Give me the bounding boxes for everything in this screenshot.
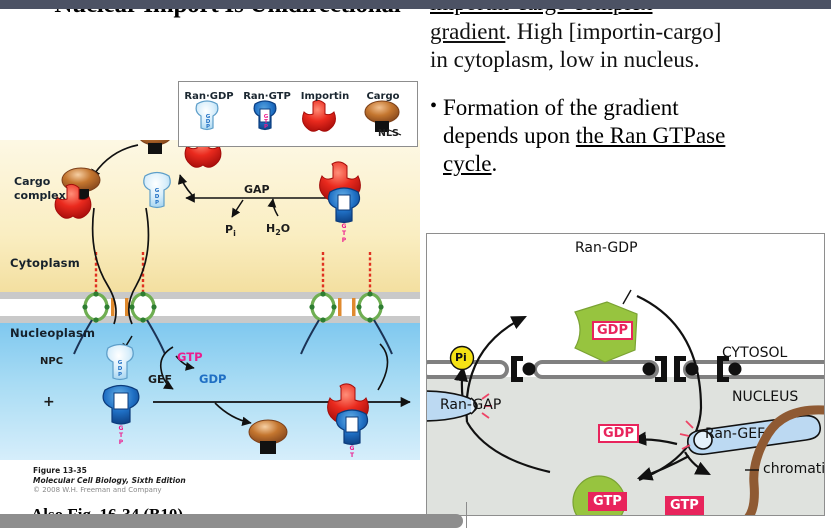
gtp-tag-bound: GTP <box>588 492 627 511</box>
svg-text:P: P <box>119 439 124 446</box>
bullet-line2-plain-text: depends upon <box>443 123 576 148</box>
ran-gdp-cytoplasm-glyph: G D P <box>144 173 170 208</box>
label-nucleus: NUCLEUS <box>732 389 798 405</box>
svg-text:G: G <box>119 425 124 432</box>
svg-text:T: T <box>119 432 124 439</box>
bullet-text-column: importin-cargo complex gradient. High [i… <box>430 4 828 178</box>
label-cargo-complex-line2: complex <box>14 189 66 202</box>
cycle-arrow-bottom-left <box>467 422 550 472</box>
ran-gdp-nucleoplasm-glyph: G D P <box>107 345 133 380</box>
credit-book-title: Molecular Cell Biology, Sixth Edition <box>33 476 186 485</box>
label-plus-nucleoplasm: + <box>43 394 55 410</box>
legend-label-nls: NLS <box>378 128 399 139</box>
svg-text:T: T <box>350 452 355 459</box>
label-pi-main: P <box>225 223 233 236</box>
label-gef: GEF <box>148 373 172 386</box>
label-cargo-complex: Cargo complex <box>14 175 66 203</box>
legend-box: Ran·GDP Ran·GTP Importin Cargo NLS GDP G… <box>178 81 418 147</box>
importin-ran-gtp-nucleoplasm-glyph: G T <box>328 384 369 459</box>
cycle-arrow-right-down <box>637 296 701 408</box>
nuclear-envelope <box>427 362 824 377</box>
gdp-tag-top: GDP <box>592 321 633 340</box>
bullet-item-formation: • Formation of the gradient depends upon… <box>430 94 828 178</box>
npc-right <box>309 291 341 322</box>
legend-gtp-micro-label: GTP <box>262 115 270 130</box>
label-gap: GAP <box>244 183 270 196</box>
label-water: H2O <box>266 222 290 237</box>
label-gtp-nucleoplasm: GTP <box>177 350 203 364</box>
right-vertical-rule <box>466 502 467 528</box>
legend-label-ran-gdp: Ran·GDP <box>184 91 233 102</box>
npc-left <box>82 291 114 322</box>
cargo-glyph <box>365 101 399 123</box>
svg-text:G: G <box>350 445 355 452</box>
label-ran-gdp: Ran-GDP <box>575 240 638 256</box>
gradient-rest-text: . High [importin-cargo] <box>505 19 721 44</box>
ran-gtp-nucleoplasm-glyph: G T P <box>103 386 139 447</box>
label-cytosol: CYTOSOL <box>722 345 787 361</box>
credit-copyright: © 2008 W.H. Freeman and Company <box>33 486 186 494</box>
label-ran-gef: Ran-GEF <box>705 426 765 442</box>
top-window-bar <box>0 0 831 9</box>
nuclear-import-diagram: G D P G T P <box>0 140 420 460</box>
svg-text:T: T <box>342 230 347 237</box>
svg-text:P: P <box>118 372 122 378</box>
ran-gtpase-cycle-diagram: Ran-GDP Pi Ran-GAP GDP GDP GTP GTP CYTOS… <box>426 233 825 516</box>
bullet-body: Formation of the gradient depends upon t… <box>443 94 828 178</box>
legend-label-importin: Importin <box>301 91 349 102</box>
cycle-period-text: . <box>492 151 498 176</box>
label-cargo-complex-line1: Cargo <box>14 175 50 188</box>
legend-label-cargo: Cargo <box>366 91 399 102</box>
fg-repeat-filaments <box>96 252 370 292</box>
importin-glyph <box>303 100 336 131</box>
recycle-arrow-up <box>378 344 388 390</box>
bottom-scroll-bar[interactable] <box>0 514 463 528</box>
paragraph-gradient: gradient. High [importin-cargo] in cytop… <box>430 18 828 74</box>
gtp-tag-free: GTP <box>665 496 704 515</box>
free-cargo-top <box>138 140 172 154</box>
cargo-release-arrow <box>215 403 251 423</box>
svg-text:P: P <box>342 237 347 244</box>
label-ran-gap: Ran-GAP <box>440 397 501 413</box>
svg-text:P: P <box>155 200 159 206</box>
gradient-line2-text: in cytoplasm, low in nucleus. <box>430 47 700 72</box>
cycle-underlined-text: cycle <box>443 151 492 176</box>
legend-label-ran-gtp: Ran·GTP <box>243 91 291 102</box>
label-npc: NPC <box>40 356 63 367</box>
released-cargo-glyph <box>249 420 287 454</box>
label-pi-sub: i <box>233 229 236 238</box>
importin-ran-gtp-cytoplasm-glyph: G T P <box>320 162 361 244</box>
bullet-marker-icon: • <box>430 94 443 178</box>
figure-credit: Figure 13-35 Molecular Cell Biology, Six… <box>33 466 186 494</box>
gdp-out-arrow <box>633 440 677 445</box>
label-pi: Pi <box>225 223 236 238</box>
label-pi: Pi <box>455 351 467 364</box>
npc-right-inner <box>352 291 384 322</box>
label-cytoplasm: Cytoplasm <box>10 256 80 270</box>
label-gdp-nucleoplasm: GDP <box>199 372 226 386</box>
gdp-tag-bottom: GDP <box>598 424 639 443</box>
label-water-o: O <box>281 222 290 235</box>
label-nucleoplasm: Nucleoplasm <box>10 326 95 340</box>
ran-gtpase-underlined-text: the Ran GTPase <box>576 123 725 148</box>
credit-figure-number: Figure 13-35 <box>33 466 186 475</box>
bullet-line1-text: Formation of the gradient <box>443 95 679 120</box>
svg-text:G: G <box>342 223 347 230</box>
label-chromatin: chromatin <box>763 461 825 477</box>
legend-gdp-micro-label: GDP <box>204 115 212 130</box>
label-water-h: H <box>266 222 275 235</box>
